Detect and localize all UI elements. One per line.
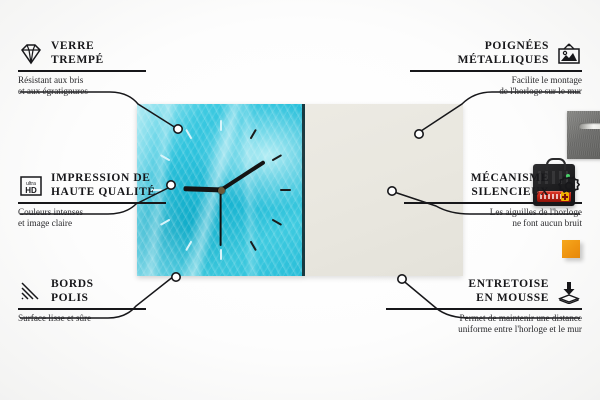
feature-title-line: MÉCANISME (404, 172, 549, 186)
feature-desc-line: uniforme entre l'horloge et le mur (386, 324, 582, 335)
feature-title-line: SILENCIEUX (404, 186, 549, 200)
clock-tick (220, 120, 222, 190)
feature-title-line: MÉTALLIQUES (410, 54, 549, 68)
metal-hanger (567, 111, 600, 159)
infographic-canvas: VERRE TREMPÉ Résistant aux bris et aux é… (0, 0, 600, 400)
feature-title-line: POLIS (51, 292, 94, 306)
feature-rule (18, 308, 146, 310)
arrow-down-pad-icon (556, 280, 582, 304)
feature-rule (404, 202, 582, 204)
hanger-slot (579, 123, 600, 129)
clock-hour-hand (183, 186, 221, 192)
feature-entretoise-en-mousse: ENTRETOISE EN MOUSSE Permet de maintenir… (386, 278, 582, 335)
diamond-icon (18, 42, 44, 66)
feature-title-line: ENTRETOISE (386, 278, 549, 292)
clock-tick (220, 129, 257, 191)
feature-rule (410, 70, 582, 72)
feature-poignees-metalliques: POIGNÉES MÉTALLIQUES Facilite le montage… (410, 40, 582, 97)
feature-rule (386, 308, 582, 310)
feature-desc-line: Surface lisse et sûre (18, 313, 168, 324)
diagonal-lines-icon (18, 280, 44, 304)
feature-desc-line: Couleurs intenses (18, 207, 188, 218)
feature-desc-line: et aux égratignures (18, 86, 168, 97)
feature-mecanisme-silencieux: MÉCANISME SILENCIEUX Les aiguilles de l'… (404, 172, 582, 229)
feature-title-line: BORDS (51, 278, 94, 292)
feature-desc-line: Facilite le montage (410, 75, 582, 86)
feature-title-line: IMPRESSION DE (51, 172, 156, 186)
feature-title-line: TREMPÉ (51, 54, 104, 68)
svg-text:HD: HD (25, 186, 37, 195)
ultra-hd-icon: ultra HD (18, 174, 44, 198)
feature-title-line: VERRE (51, 40, 104, 54)
clock-second-hand (220, 190, 222, 246)
feature-desc-line: de l'horloge sur le mur (410, 86, 582, 97)
feature-desc-line: ne font aucun bruit (404, 218, 582, 229)
picture-frame-icon (556, 42, 582, 66)
feature-desc-line: et image claire (18, 218, 188, 229)
feature-verre-trempe: VERRE TREMPÉ Résistant aux bris et aux é… (18, 40, 168, 97)
clock-center-hub (218, 187, 225, 194)
feature-rule (18, 202, 166, 204)
clock-tick (221, 189, 291, 191)
feature-title-line: HAUTE QUALITÉ (51, 186, 156, 200)
feature-title-line: EN MOUSSE (386, 292, 549, 306)
feature-desc-line: Permet de maintenir une distance (386, 313, 582, 324)
feature-rule (18, 70, 146, 72)
feature-desc-line: Les aiguilles de l'horloge (404, 207, 582, 218)
feature-bords-polis: BORDS POLIS Surface lisse et sûre (18, 278, 168, 324)
feature-title-line: POIGNÉES (410, 40, 549, 54)
gear-icon (556, 174, 582, 198)
feature-impression-haute-qualite: ultra HD IMPRESSION DE HAUTE QUALITÉ Cou… (18, 172, 188, 229)
mechanism-hook (546, 158, 566, 170)
foam-spacer (562, 240, 580, 258)
feature-desc-line: Résistant aux bris (18, 75, 168, 86)
